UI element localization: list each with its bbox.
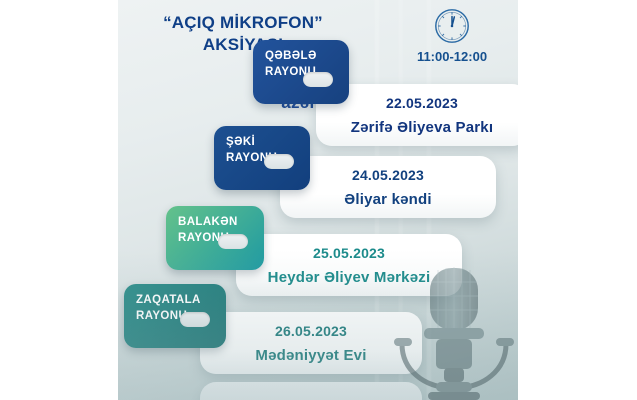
event-place: Mədəniyyət Evi bbox=[255, 347, 366, 364]
microphone-illustration bbox=[384, 240, 518, 400]
region-tag[interactable]: QƏBƏLƏ RAYONU bbox=[253, 40, 349, 104]
event-date: 25.05.2023 bbox=[313, 245, 385, 261]
title-line-1: “AÇIQ MİKROFON” bbox=[163, 13, 323, 32]
event-place: Əliyar kəndi bbox=[344, 191, 432, 208]
region-tag-line-1: ZAQATALA bbox=[136, 293, 226, 309]
time-range-label: 11:00-12:00 bbox=[386, 49, 518, 64]
region-tag-line-1: QƏBƏLƏ bbox=[265, 49, 349, 65]
clock-icon bbox=[434, 8, 470, 44]
event-date: 24.05.2023 bbox=[352, 167, 424, 183]
region-tag[interactable]: ŞƏKİ RAYONU bbox=[214, 126, 310, 190]
region-tag[interactable]: ZAQATALA RAYONU bbox=[124, 284, 226, 348]
region-tag[interactable]: BALAKƏN RAYONU bbox=[166, 206, 264, 270]
time-block: 11:00-12:00 bbox=[386, 8, 518, 64]
event-date: 26.05.2023 bbox=[275, 323, 347, 339]
poster-canvas: “AÇIQ MİKROFON” AKSİYASI azəriqaz 11:00-… bbox=[118, 0, 518, 400]
tag-connector-notch bbox=[180, 312, 210, 327]
event-date: 22.05.2023 bbox=[386, 95, 458, 111]
tag-connector-notch bbox=[218, 234, 248, 249]
event-place: Zərifə Əliyeva Parkı bbox=[351, 119, 493, 136]
region-tag-line-1: BALAKƏN bbox=[178, 215, 264, 231]
tag-connector-notch bbox=[264, 154, 294, 169]
event-card[interactable]: 24.05.2023 Əliyar kəndi bbox=[280, 156, 496, 218]
region-tag-line-1: ŞƏKİ bbox=[226, 135, 310, 151]
tag-connector-notch bbox=[303, 72, 333, 87]
